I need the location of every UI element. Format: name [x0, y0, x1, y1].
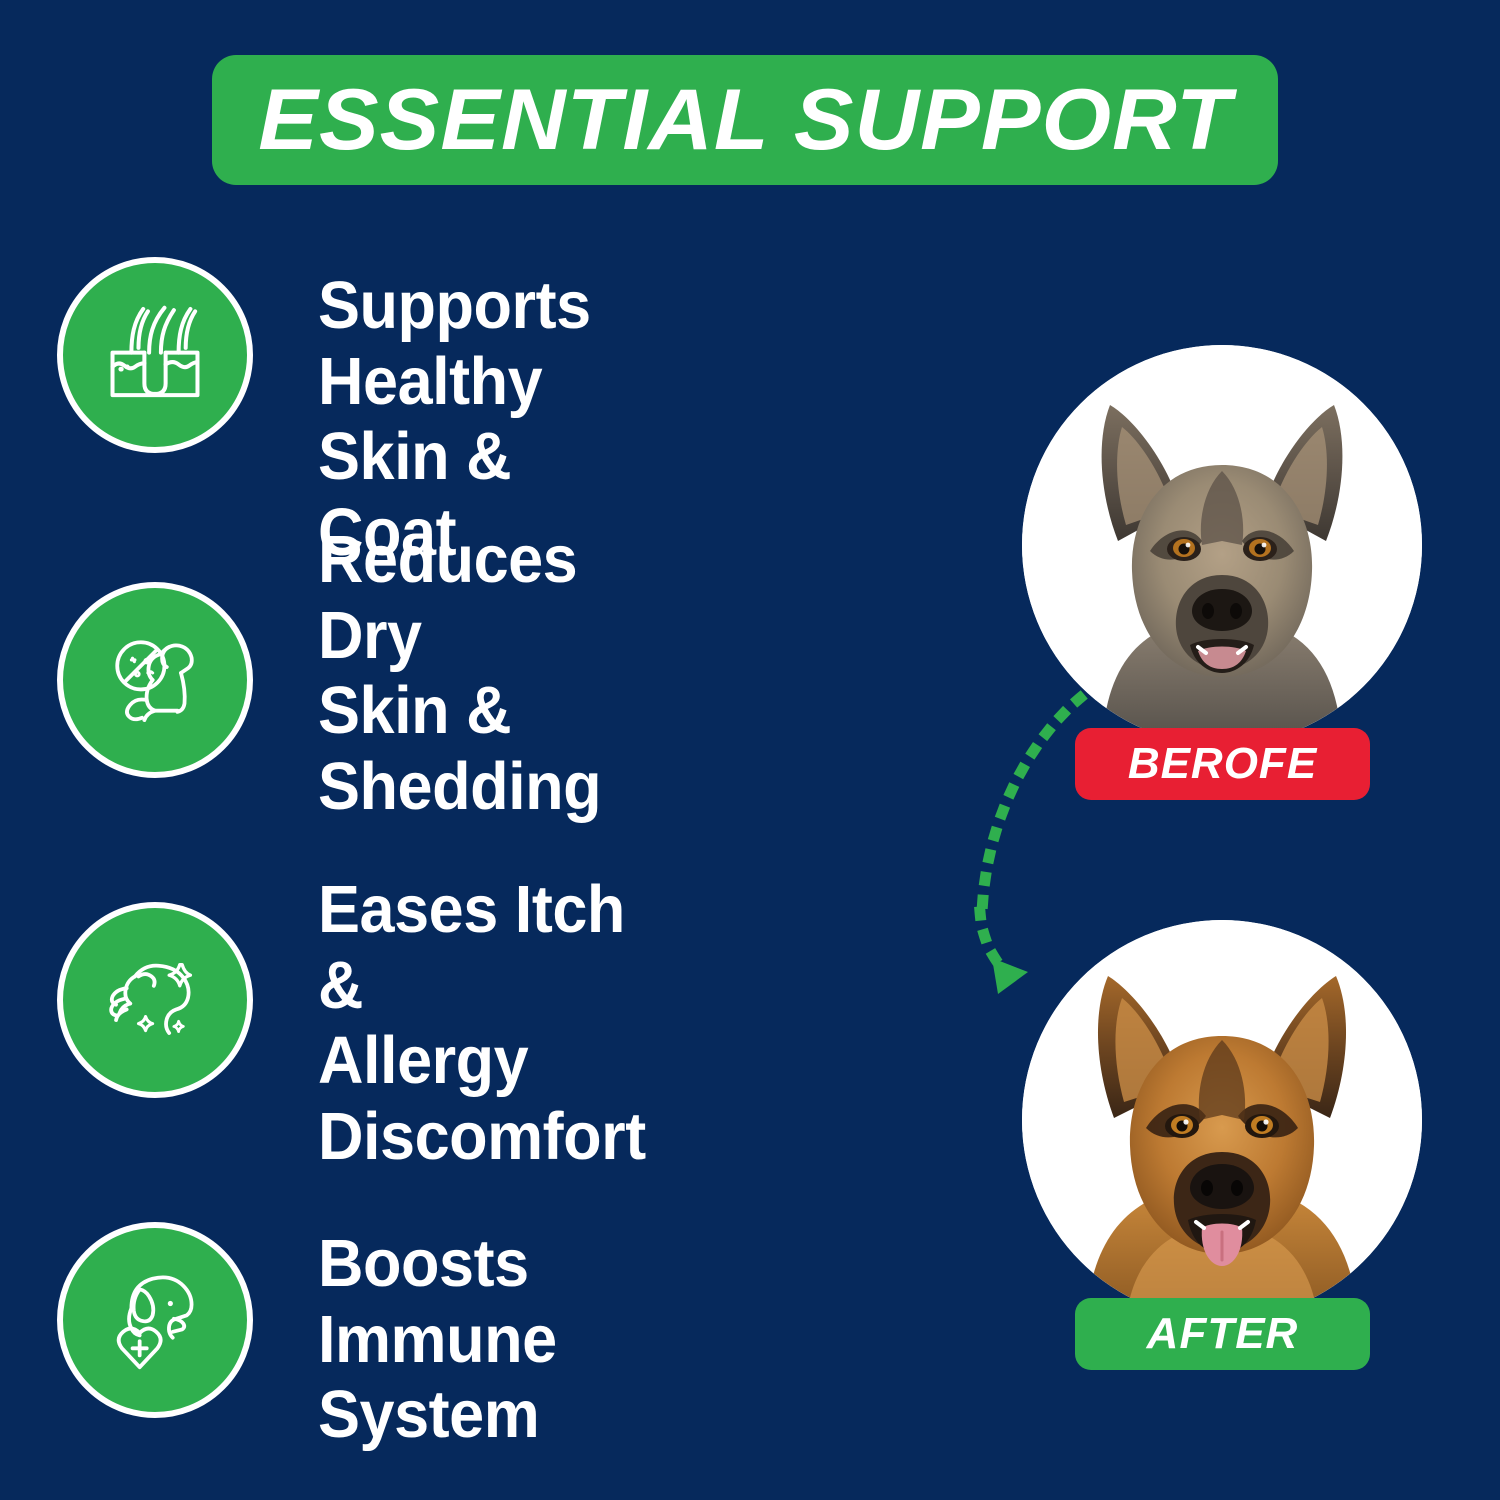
before-after-comparison: BEROFE [1000, 0, 1500, 1500]
dog-heart-cross-icon [57, 1222, 253, 1418]
infographic-canvas: ESSENTIAL SUPPORT [0, 0, 1500, 1500]
before-badge: BEROFE [1075, 728, 1370, 800]
dog-no-dry-skin-icon [57, 582, 253, 778]
benefit-label-itch-allergy: Eases Itch & Allergy Discomfort [318, 872, 646, 1175]
benefit-label-dry-skin-shedding: Reduces Dry Skin & Shedding [318, 522, 601, 825]
benefits-list: Supports Healthy Skin & Coat [0, 0, 1010, 1500]
german-shepherd-shiny-coat-photo [1022, 920, 1422, 1320]
dog-head-sparkle-icon [57, 902, 253, 1098]
after-badge-label: AFTER [1147, 1309, 1299, 1359]
benefit-label-immune-system: Boosts Immune System [318, 1226, 557, 1453]
after-photo [1022, 920, 1422, 1320]
hair-follicle-skin-icon [57, 257, 253, 453]
before-photo [1022, 345, 1422, 745]
before-badge-label: BEROFE [1128, 739, 1317, 789]
german-shepherd-dull-coat-photo [1022, 345, 1422, 745]
after-badge: AFTER [1075, 1298, 1370, 1370]
